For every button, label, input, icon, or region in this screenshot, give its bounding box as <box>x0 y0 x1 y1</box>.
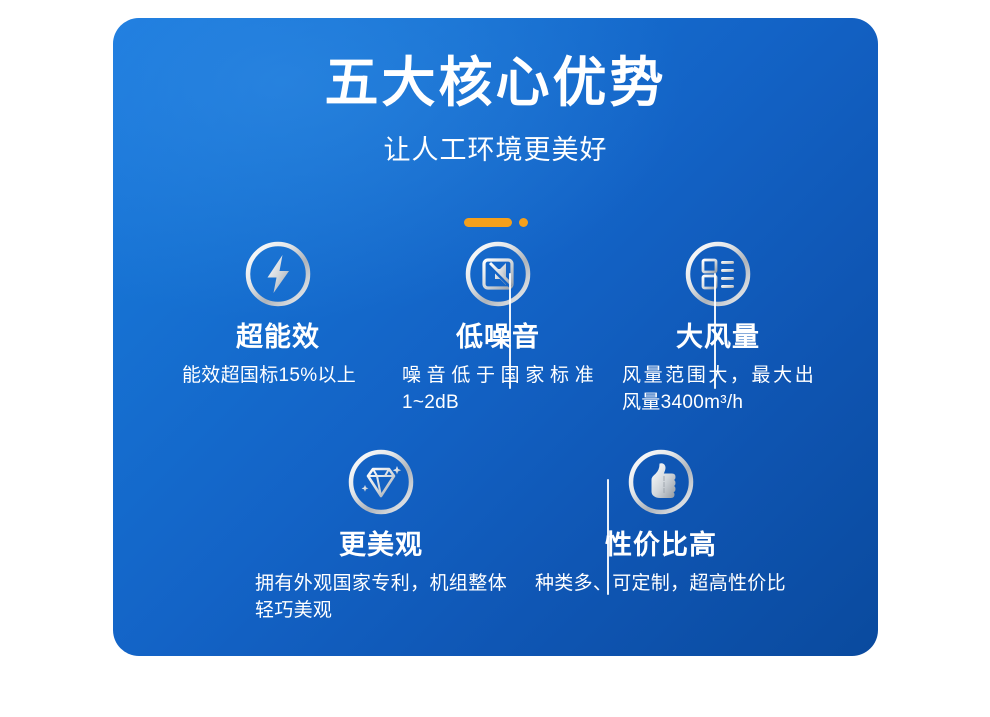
thumbs-up-icon <box>627 448 695 516</box>
feature-title: 低噪音 <box>456 308 540 354</box>
feature-title: 更美观 <box>339 516 423 562</box>
accent-bar-icon <box>464 218 512 227</box>
advantages-card: 五大核心优势 让人工环境更美好 <box>113 18 878 656</box>
page-subtitle: 让人工环境更美好 <box>113 115 878 167</box>
feature-description: 能效超国标15%以上 <box>182 354 374 389</box>
feature-item-super-efficiency[interactable]: 超能效 能效超国标15%以上 <box>168 240 388 416</box>
feature-title: 性价比高 <box>605 516 717 562</box>
features-row-2: 更美观 拥有外观国家专利，机组整体轻巧美观 <box>241 448 801 624</box>
feature-title: 大风量 <box>676 308 760 354</box>
column-separator-2 <box>714 273 716 389</box>
page-title: 五大核心优势 <box>113 18 878 115</box>
feature-description: 拥有外观国家专利，机组整体轻巧美观 <box>255 562 507 624</box>
accent-dot-icon <box>519 218 528 227</box>
feature-item-cost-performance[interactable]: 性价比高 种类多、可定制，超高性价比 <box>521 448 801 624</box>
feature-description: 风量范围大，最大出风量3400m³/h <box>622 354 814 416</box>
feature-item-large-airflow[interactable]: 大风量 风量范围大，最大出风量3400m³/h <box>608 240 828 416</box>
diamond-icon <box>347 448 415 516</box>
feature-description: 种类多、可定制，超高性价比 <box>535 562 787 597</box>
feature-item-low-noise[interactable]: 低噪音 噪音低于国家标准1~2dB <box>388 240 608 416</box>
column-separator-3 <box>607 479 609 595</box>
mute-speaker-icon <box>464 240 532 308</box>
feature-description: 噪音低于国家标准1~2dB <box>402 354 594 416</box>
feature-title: 超能效 <box>236 308 320 354</box>
card-header: 五大核心优势 让人工环境更美好 <box>113 18 878 167</box>
features-row-1: 超能效 能效超国标15%以上 <box>168 240 828 416</box>
lightning-bolt-icon <box>244 240 312 308</box>
column-separator-1 <box>509 273 511 389</box>
accent-divider <box>113 216 878 228</box>
page-root: 五大核心优势 让人工环境更美好 <box>0 0 990 717</box>
list-layout-icon <box>684 240 752 308</box>
feature-item-better-appearance[interactable]: 更美观 拥有外观国家专利，机组整体轻巧美观 <box>241 448 521 624</box>
